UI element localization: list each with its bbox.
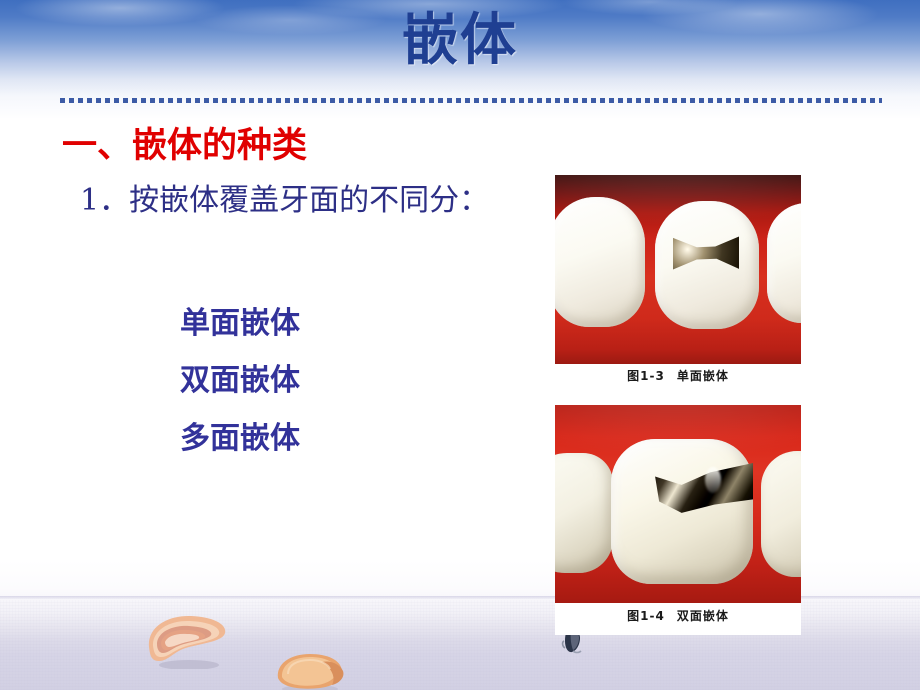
figure-two-surface-inlay: 图1-4双面嵌体 (555, 405, 801, 635)
figure-number: 图1-4 (627, 609, 665, 623)
two-surface-inlay-photo (555, 405, 801, 603)
figure-single-surface-inlay: 图1-3单面嵌体 (555, 175, 801, 390)
single-surface-inlay-photo (555, 175, 801, 364)
slide-canvas: 嵌体 一、嵌体的种类 1．按嵌体覆盖牙面的不同分： 单面嵌体 双面嵌体 多面嵌体… (0, 0, 920, 690)
sub-heading-line: 1．按嵌体覆盖牙面的不同分： (80, 181, 489, 221)
figure-caption-text: 单面嵌体 (677, 369, 729, 383)
large-conch-shell-icon (143, 613, 229, 669)
molar-left (555, 453, 613, 573)
figure-caption-text: 双面嵌体 (677, 609, 729, 623)
molar-right (761, 451, 801, 577)
figure-caption: 图1-3单面嵌体 (555, 367, 801, 384)
list-item: 多面嵌体 (180, 420, 300, 458)
section-heading: 一、嵌体的种类 (62, 124, 307, 168)
tooth-right (767, 203, 801, 323)
list-item: 单面嵌体 (180, 305, 300, 343)
list-item: 双面嵌体 (180, 362, 300, 400)
small-clam-shell-icon (270, 650, 346, 690)
tooth-left (555, 197, 645, 327)
page-title: 嵌体 (0, 8, 920, 74)
dotted-divider (60, 98, 882, 103)
figure-number: 图1-3 (627, 369, 665, 383)
inlay-highlight (705, 467, 721, 493)
figure-caption: 图1-4双面嵌体 (555, 607, 801, 624)
tooth-center (655, 201, 759, 329)
